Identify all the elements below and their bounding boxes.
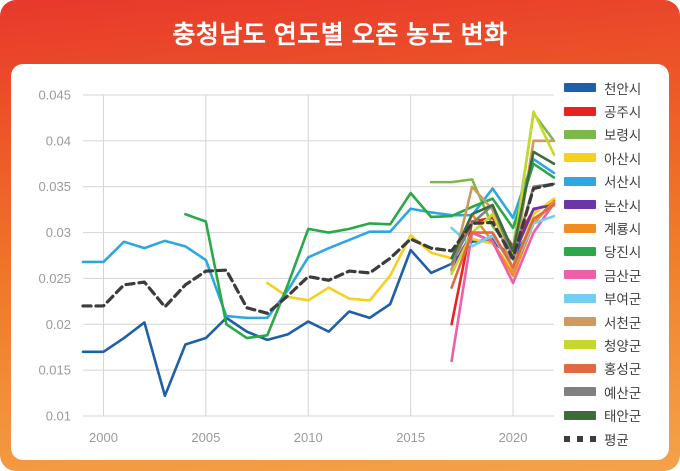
- y-tick-label: 0.04: [46, 133, 71, 148]
- legend-label: 예산군: [604, 382, 641, 402]
- legend-swatch: [564, 177, 596, 186]
- legend-label: 태안군: [604, 405, 641, 425]
- legend-swatch: [564, 364, 596, 373]
- legend-item[interactable]: 평균: [564, 427, 669, 450]
- y-tick-label: 0.015: [38, 363, 71, 378]
- legend-item[interactable]: 당진시: [564, 240, 669, 263]
- legend-item[interactable]: 보령시: [564, 123, 669, 146]
- page-title: 충청남도 연도별 오존 농도 변화: [172, 15, 507, 51]
- y-tick-label: 0.035: [38, 179, 71, 194]
- y-tick-label: 0.01: [46, 409, 71, 424]
- legend-swatch: [564, 317, 596, 326]
- legend-item[interactable]: 태안군: [564, 403, 669, 426]
- x-tick-label: 2010: [294, 430, 323, 445]
- legend-item[interactable]: 서산시: [564, 170, 669, 193]
- legend-label: 청양군: [604, 335, 641, 355]
- legend-item[interactable]: 계룡시: [564, 216, 669, 239]
- legend-swatch: [564, 270, 596, 279]
- y-tick-label: 0.025: [38, 271, 71, 286]
- legend-item[interactable]: 아산시: [564, 146, 669, 169]
- legend-item[interactable]: 홍성군: [564, 357, 669, 380]
- legend-item[interactable]: 공주시: [564, 99, 669, 122]
- legend-swatch: [564, 387, 596, 396]
- y-tick-label: 0.03: [46, 225, 71, 240]
- legend-swatch: [564, 294, 596, 303]
- gridlines-group: [83, 95, 554, 416]
- legend-item[interactable]: 청양군: [564, 333, 669, 356]
- x-tick-label: 2000: [89, 430, 118, 445]
- legend-item[interactable]: 금산군: [564, 263, 669, 286]
- legend-swatch: [564, 130, 596, 139]
- line-chart-svg: 0.010.0150.020.0250.030.0350.040.045 200…: [11, 64, 564, 460]
- legend-item[interactable]: 천안시: [564, 76, 669, 99]
- chart-card: 0.010.0150.020.0250.030.0350.040.045 200…: [11, 64, 669, 460]
- legend-label: 홍성군: [604, 358, 641, 378]
- legend-label: 아산시: [604, 148, 641, 168]
- y-tick-label: 0.02: [46, 317, 71, 332]
- legend-label: 서산시: [604, 171, 641, 191]
- legend-swatch: [564, 340, 596, 349]
- x-tick-label: 2020: [499, 430, 528, 445]
- legend-swatch: [564, 83, 596, 92]
- legend-label: 논산시: [604, 195, 641, 215]
- title-bar: 충청남도 연도별 오존 농도 변화: [0, 0, 680, 66]
- y-tick-label: 0.045: [38, 88, 71, 103]
- legend-label: 당진시: [604, 241, 641, 261]
- legend-item[interactable]: 서천군: [564, 310, 669, 333]
- legend-swatch: [564, 107, 596, 116]
- x-tick-label: 2005: [191, 430, 220, 445]
- legend-label: 공주시: [604, 101, 641, 121]
- legend-label: 보령시: [604, 124, 641, 144]
- legend-swatch: [564, 436, 596, 442]
- chart-legend: 천안시공주시보령시아산시서산시논산시계룡시당진시금산군부여군서천군청양군홍성군예…: [564, 74, 669, 454]
- y-axis-tick-labels: 0.010.0150.020.0250.030.0350.040.045: [38, 88, 71, 424]
- legend-label: 부여군: [604, 288, 641, 308]
- legend-item[interactable]: 예산군: [564, 380, 669, 403]
- legend-swatch: [564, 224, 596, 233]
- legend-label: 금산군: [604, 265, 641, 285]
- legend-swatch: [564, 153, 596, 162]
- legend-label: 평균: [604, 429, 629, 449]
- legend-item[interactable]: 부여군: [564, 287, 669, 310]
- plot-area: 0.010.0150.020.0250.030.0350.040.045 200…: [11, 64, 564, 460]
- legend-label: 계룡시: [604, 218, 641, 238]
- legend-label: 천안시: [604, 78, 641, 98]
- legend-label: 서천군: [604, 312, 641, 332]
- legend-swatch: [564, 247, 596, 256]
- legend-swatch: [564, 411, 596, 420]
- legend-item[interactable]: 논산시: [564, 193, 669, 216]
- series-group: [83, 112, 554, 396]
- chart-card-root: 충청남도 연도별 오존 농도 변화 0.010.0150.020.0250.03…: [0, 0, 680, 471]
- x-axis-tick-labels: 20002005201020152020: [89, 430, 527, 445]
- x-tick-label: 2015: [396, 430, 425, 445]
- legend-swatch: [564, 200, 596, 209]
